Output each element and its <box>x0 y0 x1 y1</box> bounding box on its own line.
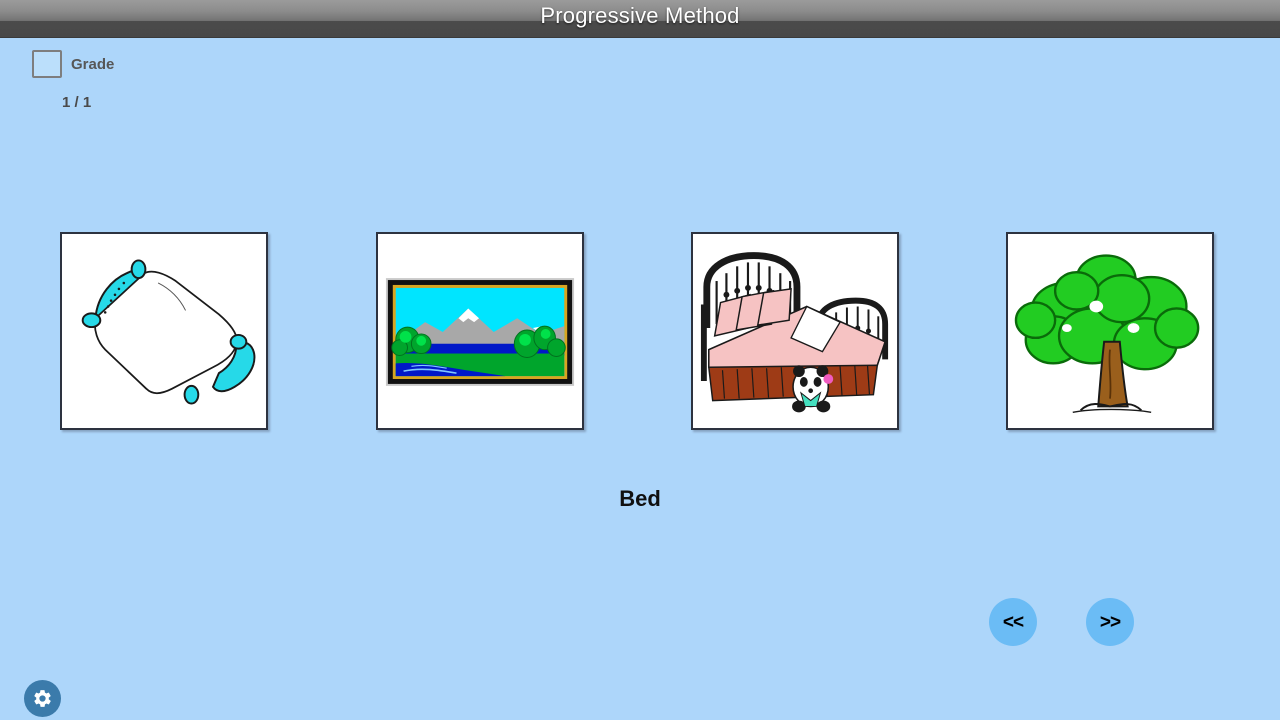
prompt-word: Bed <box>0 486 1280 512</box>
choice-card-pillow[interactable] <box>60 232 268 430</box>
item-counter: 1 / 1 <box>62 94 91 111</box>
gear-icon <box>32 688 53 709</box>
title-bar: Progressive Method <box>0 0 1280 38</box>
next-button[interactable]: >> <box>1086 598 1134 646</box>
choice-card-bed[interactable] <box>691 232 899 430</box>
settings-button[interactable] <box>24 680 61 717</box>
grade-checkbox[interactable] <box>32 50 62 78</box>
pillow-icon <box>62 234 266 428</box>
previous-button[interactable]: << <box>989 598 1037 646</box>
choice-card-tree[interactable] <box>1006 232 1214 430</box>
bed-icon <box>693 234 897 428</box>
tree-icon <box>1008 234 1212 428</box>
choice-card-row <box>0 232 1280 432</box>
page-title: Progressive Method <box>0 2 1280 30</box>
grade-control[interactable]: Grade <box>32 50 114 78</box>
framed-landscape-icon <box>378 234 582 428</box>
choice-card-picture[interactable] <box>376 232 584 430</box>
grade-label: Grade <box>71 56 114 73</box>
